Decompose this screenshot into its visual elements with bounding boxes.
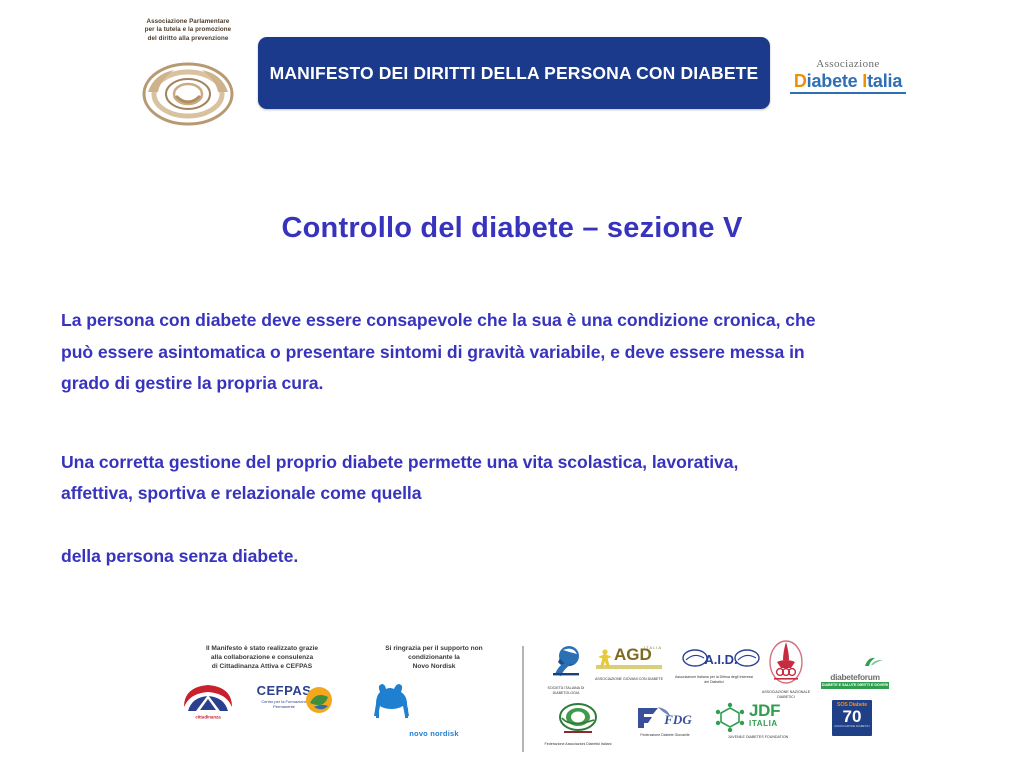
aid-emblem-icon: A.I.D. (681, 648, 761, 670)
partner-logos-grid: SOCIETÀ ITALIANA DI DIABETOLOGIA ITALIA … (534, 640, 894, 760)
agd-star-icon (596, 648, 614, 670)
svg-text:FDG: FDG (663, 712, 692, 727)
parliament-caption-line3: del diritto alla prevenzione (128, 35, 248, 43)
credits-novo-line2: condizionante la (364, 653, 504, 662)
credits-novo-line1: Si ringrazia per il supporto non (364, 644, 504, 653)
diabete-italia-talia: talia (867, 71, 902, 91)
diabeteforum-sub: DIABETE E SALUTE DIRITTI E DOVERI (821, 682, 889, 689)
manifesto-banner-text: MANIFESTO DEI DIRITTI DELLA PERSONA CON … (270, 63, 759, 84)
slide-footer: Il Manifesto è stato realizzato grazie a… (0, 630, 1024, 768)
simdo-emblem-icon (547, 644, 585, 680)
fdg-sub: Federazione Diabete Giovanile (626, 733, 704, 738)
partner-logo-ande: ASSOCIAZIONE NAZIONALE DIABETICI (756, 640, 816, 699)
body-paragraph-3: della persona senza diabete. (61, 541, 861, 573)
sos70-logo: SOS Diabete 70 ASSOCIAZIONE DIABETICI (832, 700, 872, 736)
sos70-number: 70 (832, 708, 872, 725)
credits-novo-block: Si ringrazia per il supporto non condizi… (364, 644, 504, 738)
page-title: Controllo del diabete – sezione V (0, 212, 1024, 245)
fdg-mark-icon: FDG (634, 704, 696, 730)
partner-logo-sos70: SOS Diabete 70 ASSOCIAZIONE DIABETICI (820, 700, 884, 736)
novo-nordisk-bull-icon (364, 682, 422, 724)
sos70-sub: ASSOCIAZIONE DIABETICI (832, 725, 872, 728)
diabeteforum-bird-icon (821, 657, 889, 667)
novo-nordisk-wordmark: novo nordisk (364, 729, 504, 738)
svg-text:A.I.D.: A.I.D. (704, 652, 737, 667)
cittadinanzattiva-logo-icon: cittadinanza (180, 681, 236, 721)
ande-sub: ASSOCIAZIONE NAZIONALE DIABETICI (756, 690, 816, 699)
body-paragraph-2: Una corretta gestione del proprio diabet… (61, 447, 781, 510)
diabeteforum-wordmark: diabeteforum (821, 672, 889, 682)
fand-sub: Federazione Associazioni Diabetici Itali… (540, 742, 616, 747)
partner-logo-jdf: JDF ITALIA JUVENILE DIABETES FOUNDATION (706, 702, 810, 740)
diabete-italia-associazione: Associazione (788, 58, 908, 70)
jdf-wordmark: JDF (749, 703, 780, 719)
partner-logo-simdo: SOCIETÀ ITALIANA DI DIABETOLOGIA (534, 644, 598, 695)
fdg-logo: FDG (634, 704, 696, 732)
credits-cefpas-logos: cittadinanza CEFPAS Centro per la Formaz… (176, 679, 348, 723)
svg-text:cittadinanza: cittadinanza (195, 714, 221, 719)
partner-logo-agd: ITALIA AGD ASSOCIAZIONE GIOVANI CON DIAB… (590, 646, 668, 682)
slide-root: Associazione Parlamentare per la tutela … (0, 0, 1024, 768)
credits-novo-line3: Novo Nordisk (364, 662, 504, 671)
aid-logo: A.I.D. (681, 648, 747, 674)
diabete-italia-logo: Associazione Diabete Italia (788, 58, 908, 104)
agd-italia-label: ITALIA (644, 645, 662, 650)
slide-header: Associazione Parlamentare per la tutela … (0, 0, 1024, 150)
parliament-emblem-icon (140, 52, 236, 132)
manifesto-banner: MANIFESTO DEI DIRITTI DELLA PERSONA CON … (258, 37, 770, 109)
footer-divider (522, 646, 524, 752)
credits-cefpas-line3: di Cittadinanza Attiva e CEFPAS (176, 662, 348, 671)
jdf-logo: JDF ITALIA (713, 702, 803, 732)
associazione-parlamentare-logo: Associazione Parlamentare per la tutela … (128, 18, 248, 136)
simdo-sub: SOCIETÀ ITALIANA DI DIABETOLOGIA (534, 686, 598, 695)
jdf-hexagon-icon (713, 702, 747, 732)
aid-sub: Associazione Italiana per la Difesa degl… (674, 675, 754, 684)
agd-sub: ASSOCIAZIONE GIOVANI CON DIABETE (590, 677, 668, 682)
body-paragraph-1: La persona con diabete deve essere consa… (61, 305, 851, 400)
jdf-sub: JUVENILE DIABETES FOUNDATION (706, 735, 810, 740)
fand-emblem-icon (558, 702, 598, 736)
partner-logo-fdg: FDG Federazione Diabete Giovanile (626, 704, 704, 738)
partner-logo-aid: A.I.D. Associazione Italiana per la Dife… (674, 648, 754, 684)
diabete-italia-d: D (794, 71, 807, 91)
credits-cefpas-block: Il Manifesto è stato realizzato grazie a… (176, 644, 348, 723)
agd-logo: ITALIA AGD (596, 646, 662, 676)
jdf-italia-label: ITALIA (749, 719, 780, 728)
diabeteforum-logo: diabeteforum DIABETE E SALUTE DIRITTI E … (821, 654, 889, 680)
credits-cefpas-line1: Il Manifesto è stato realizzato grazie (176, 644, 348, 653)
partner-logo-diabeteforum: diabeteforum DIABETE E SALUTE DIRITTI E … (816, 654, 894, 680)
diabete-italia-underline (790, 92, 906, 94)
cefpas-globe-icon (304, 685, 334, 715)
diabete-italia-wordmark: Diabete Italia (788, 71, 908, 91)
partner-logo-fand: Federazione Associazioni Diabetici Itali… (540, 702, 616, 747)
diabete-italia-iabete: iabete (807, 71, 863, 91)
parliament-caption-line1: Associazione Parlamentare (128, 18, 248, 26)
body-content: La persona con diabete deve essere consa… (61, 305, 861, 572)
ande-emblem-icon (764, 640, 808, 684)
parliament-caption-line2: per la tutela e la promozione (128, 26, 248, 34)
credits-cefpas-line2: alla collaborazione e consulenza (176, 653, 348, 662)
